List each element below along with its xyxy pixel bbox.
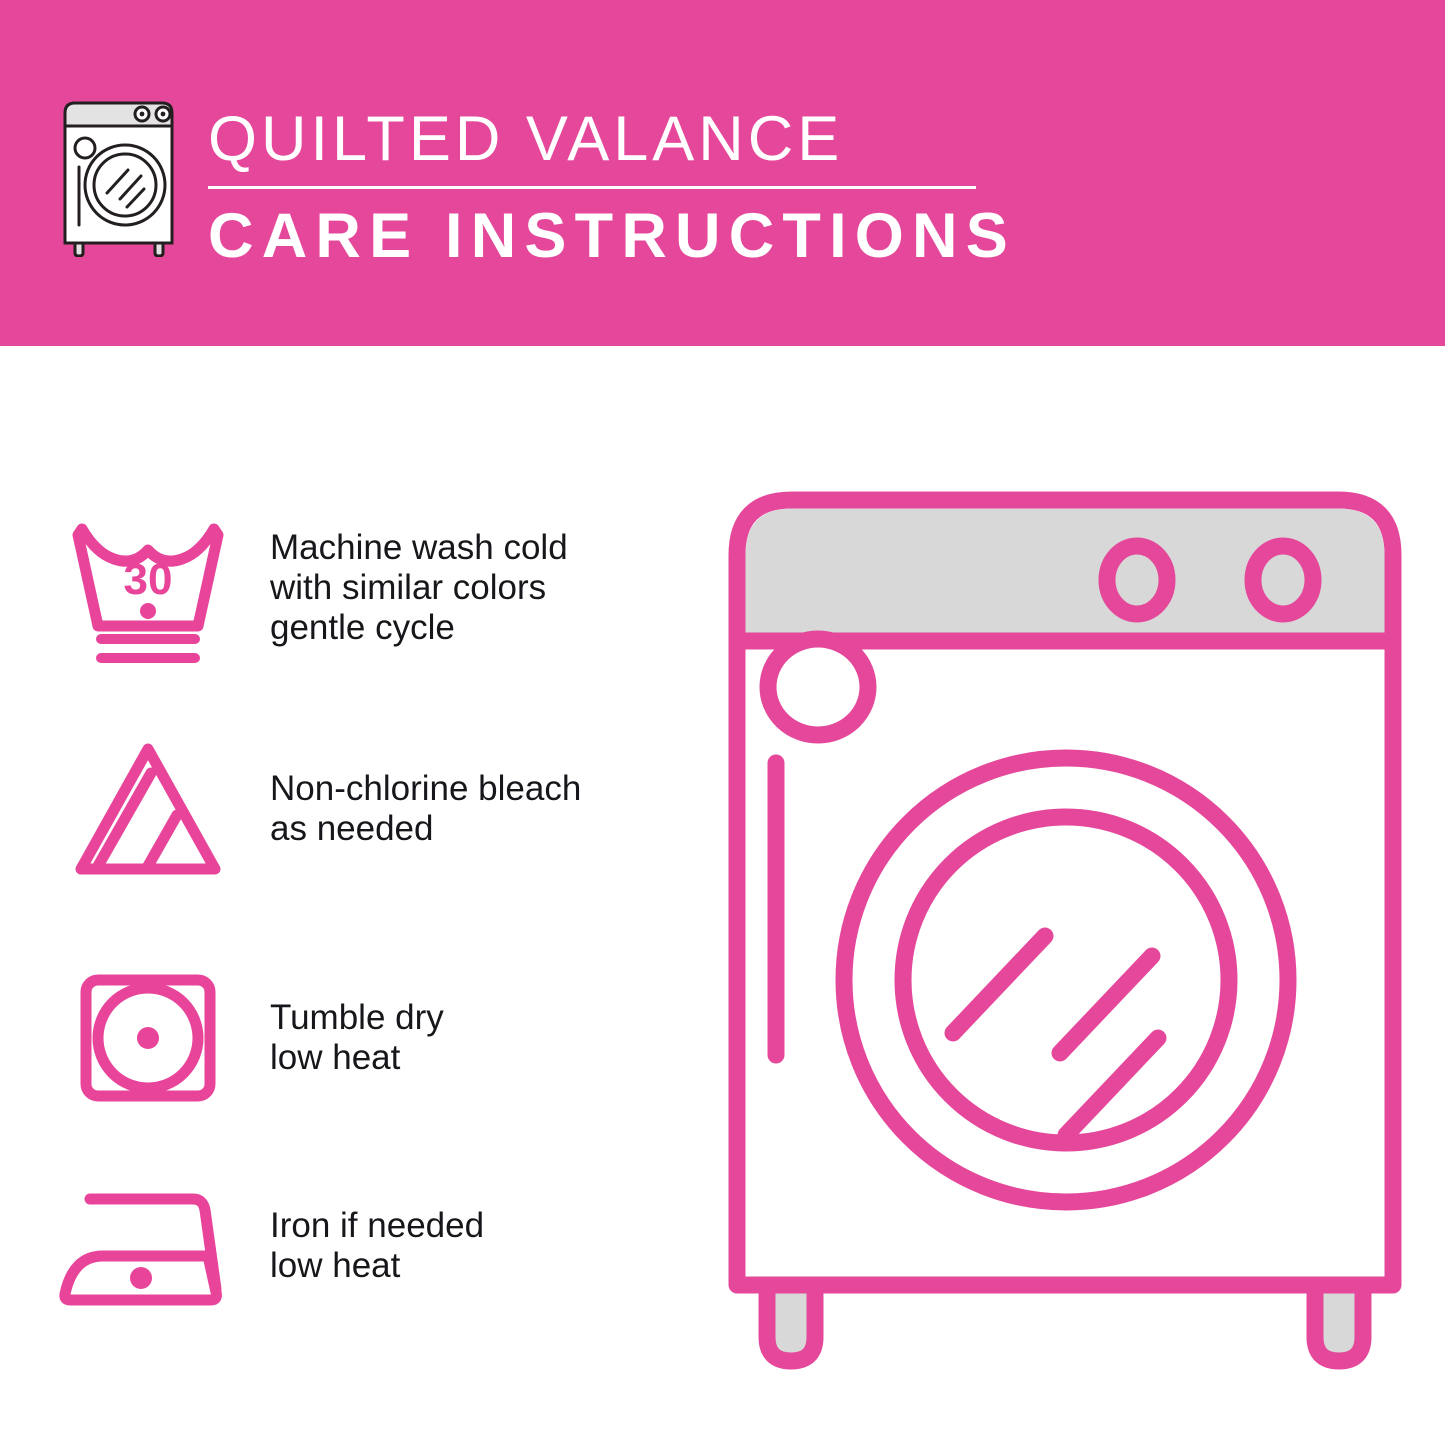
care-text-line: Non-chlorine bleach [270,769,581,809]
header-banner: QUILTED VALANCE CARE INSTRUCTIONS [0,0,1445,346]
care-text-line: Machine wash cold [270,528,568,568]
care-text-line: Iron if needed [270,1206,484,1246]
care-text-line: low heat [270,1246,484,1286]
care-item-tumble-dry: Tumble dry low heat [0,938,700,1138]
title-divider [208,186,976,189]
care-text-line: gentle cycle [270,608,568,648]
care-item-iron: Iron if needed low heat [0,1146,700,1346]
washing-machine-logo-icon [58,97,184,257]
washing-machine-illustration [700,455,1430,1385]
care-item-text: Machine wash cold with similar colors ge… [270,528,568,648]
tumble-dry-low-heat-icon [48,948,248,1128]
care-item-machine-wash: 30 Machine wash cold with similar colors… [0,488,700,688]
care-text-line: low heat [270,1038,444,1078]
header-text-block: QUILTED VALANCE CARE INSTRUCTIONS [208,100,998,274]
care-item-text: Iron if needed low heat [270,1206,484,1286]
page-subtitle: CARE INSTRUCTIONS [208,198,998,274]
care-instructions-page: QUILTED VALANCE CARE INSTRUCTIONS 30 [0,0,1445,1445]
svg-text:30: 30 [124,555,173,604]
care-instructions-list: 30 Machine wash cold with similar colors… [0,346,700,1445]
machine-wash-30-gentle-icon: 30 [48,498,248,678]
care-item-bleach: Non-chlorine bleach as needed [0,709,700,909]
care-text-line: as needed [270,809,581,849]
care-text-line: Tumble dry [270,998,444,1038]
iron-low-heat-icon [48,1156,248,1336]
page-title: QUILTED VALANCE [208,100,998,178]
care-item-text: Non-chlorine bleach as needed [270,769,581,849]
care-item-text: Tumble dry low heat [270,998,444,1078]
care-text-line: with similar colors [270,568,568,608]
non-chlorine-bleach-triangle-icon [48,719,248,899]
